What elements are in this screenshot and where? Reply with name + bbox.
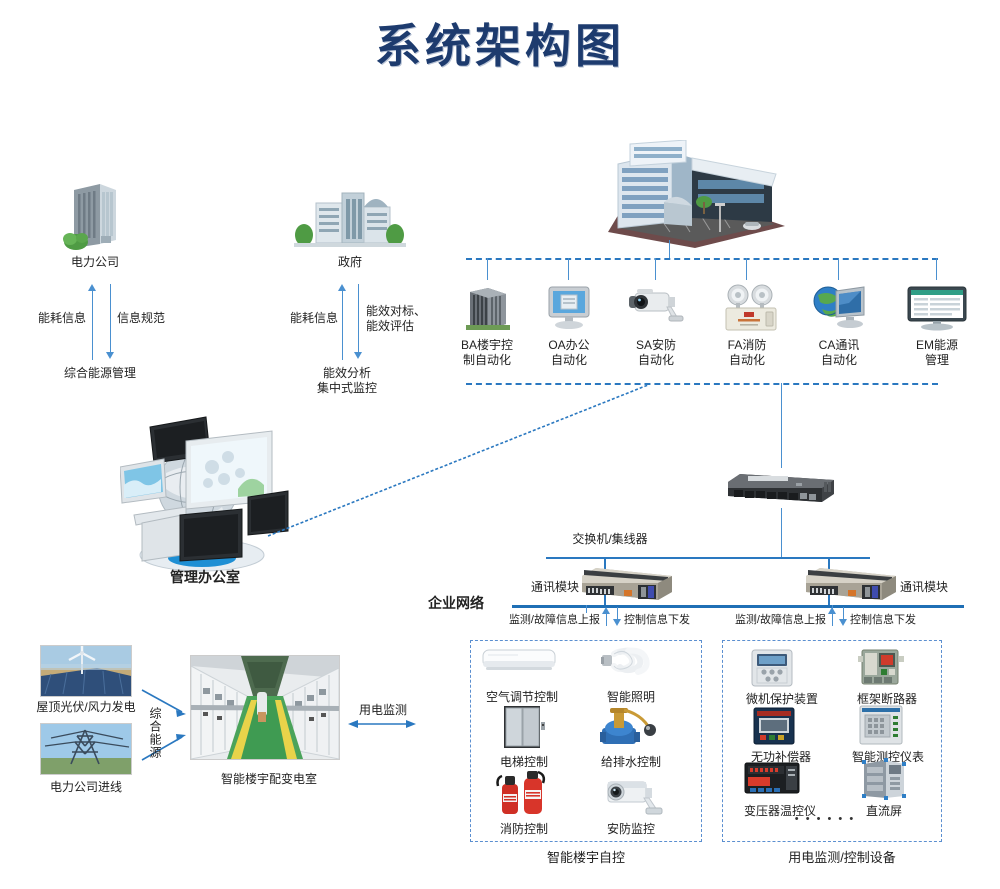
substation-label: 智能楼宇配变电室 — [195, 772, 343, 787]
panel1-label-5: 消防控制 — [484, 822, 564, 837]
integrated-energy-management-label: 综合能源管理 — [25, 366, 175, 381]
power-company-up-arrowhead — [88, 284, 96, 291]
government-down-line — [358, 284, 359, 354]
panel1-uplink-stub — [586, 605, 587, 613]
air-conditioner-icon — [482, 648, 556, 676]
reactive-compensator-icon — [752, 706, 796, 746]
downlink-label-right: 控制信息下发 — [850, 613, 940, 628]
government-up-label: 能耗信息 — [272, 311, 338, 326]
cctv-camera-icon — [625, 285, 687, 331]
subsystem-bus-bottom — [466, 383, 938, 385]
subsystem-label-4: FA消防 自动化 — [707, 338, 787, 368]
enterprise-network-bus — [512, 605, 964, 608]
government-up-arrowhead — [338, 284, 346, 291]
communication-module-icon-right — [804, 566, 898, 602]
power-company-down-label: 信息规范 — [117, 311, 187, 326]
desktop-monitor-icon — [545, 285, 593, 331]
smart-meter-icon — [858, 704, 904, 746]
energy-dashboard-icon — [906, 285, 968, 331]
government-down-arrowhead — [354, 352, 362, 359]
power-company-down-arrowhead — [106, 352, 114, 359]
power-monitoring-caption: 用电监测/控制设备 — [752, 850, 932, 865]
page-title: 系统架构图 — [0, 10, 1000, 76]
subsystem-label-3: SA安防 自动化 — [616, 338, 696, 368]
panel1-label-3: 电梯控制 — [484, 755, 564, 770]
subsystem-drop-2 — [568, 258, 569, 280]
management-office-label: 管理办公室 — [135, 570, 275, 585]
subsystem-label-6: EM能源 管理 — [897, 338, 977, 368]
power-company-up-line — [92, 290, 93, 360]
integrated-energy-flow-label: 综合能源 — [148, 707, 162, 759]
network-switch-icon — [726, 468, 836, 512]
comm-module-bus — [546, 557, 870, 559]
comm-module-right-label: 通讯模块 — [900, 580, 970, 595]
panel2-ellipsis: • • • • • • — [790, 812, 860, 827]
emergency-light-icon — [722, 283, 780, 333]
panel1-label-4: 给排水控制 — [586, 755, 676, 770]
switch-uplink-line — [781, 383, 782, 468]
panel2-uplink-stub — [832, 605, 833, 613]
subsystem-label-2: OA办公 自动化 — [529, 338, 609, 368]
power-company-up-label: 能耗信息 — [20, 311, 86, 326]
building-drop-line — [669, 240, 670, 258]
protection-relay-icon — [750, 648, 794, 688]
subsystem-bus-top — [466, 258, 938, 260]
uplink-label-left: 监测/故障信息上报 — [480, 613, 600, 628]
comm-module-left-label: 通讯模块 — [513, 580, 579, 595]
circuit-breaker-icon — [858, 646, 904, 688]
panel1-label-1: 空气调节控制 — [472, 690, 572, 705]
globe-monitor-icon — [812, 283, 868, 331]
wind-solar-photo — [40, 645, 132, 697]
transformer-temp-controller-icon — [744, 762, 800, 794]
power-company-label: 电力公司 — [30, 255, 160, 270]
energy-analysis-label: 能效分析 集中式监控 — [282, 366, 412, 396]
downlink-arrow-right-head — [839, 619, 847, 626]
uplink-arrow-right-line — [832, 612, 833, 626]
uplink-arrow-left-head — [602, 607, 610, 614]
subsystem-drop-5 — [838, 258, 839, 280]
downlink-label-left: 控制信息下发 — [624, 613, 714, 628]
smart-building-icon — [600, 140, 790, 250]
building-automation-caption: 智能楼宇自控 — [506, 850, 666, 865]
uplink-label-right: 监测/故障信息上报 — [706, 613, 826, 628]
government-building-icon — [294, 185, 406, 247]
solar-wind-source-label: 屋顶光伏/风力发电 — [20, 700, 152, 715]
subsystem-drop-6 — [936, 258, 937, 280]
subsystem-drop-3 — [655, 258, 656, 280]
grid-source-label: 电力公司进线 — [25, 780, 147, 795]
security-camera-icon — [604, 776, 668, 816]
panel2-label-1: 微机保护装置 — [734, 692, 830, 707]
switch-label: 交换机/集线器 — [530, 532, 690, 547]
elevator-icon — [502, 704, 546, 750]
multi-screen-globe-icon — [120, 415, 290, 575]
fire-extinguisher-icon — [496, 770, 552, 818]
highrise-icon — [464, 282, 512, 332]
government-down-label: 能效对标、 能效评估 — [366, 304, 446, 334]
downlink-arrow-left-head — [613, 619, 621, 626]
subsystem-drop-1 — [487, 258, 488, 280]
office-tower-icon — [60, 180, 126, 252]
switchgear-room-photo — [190, 655, 340, 760]
subsystem-drop-4 — [746, 258, 747, 280]
subsystem-label-5: CA通讯 自动化 — [799, 338, 879, 368]
water-valve-icon — [600, 700, 660, 750]
panel2-label-6: 直流屏 — [852, 804, 916, 819]
panel1-label-6: 安防监控 — [588, 822, 674, 837]
cfl-bulb-icon — [600, 644, 652, 680]
subsystem-label-1: BA楼宇控 制自动化 — [447, 338, 527, 368]
power-monitor-label: 用电监测 — [346, 703, 420, 718]
power-company-down-line — [110, 284, 111, 354]
transmission-tower-photo — [40, 723, 132, 775]
government-label: 政府 — [285, 255, 415, 270]
government-up-line — [342, 290, 343, 360]
communication-module-icon — [580, 566, 674, 602]
enterprise-network-label: 企业网络 — [428, 596, 508, 611]
uplink-arrow-left-line — [606, 612, 607, 626]
system-architecture-diagram: 系统架构图 电力公司 能耗信息 信息规范 综合能源管理 — [0, 0, 1000, 889]
switch-downlink-line — [781, 508, 782, 557]
dc-panel-icon — [862, 758, 906, 800]
